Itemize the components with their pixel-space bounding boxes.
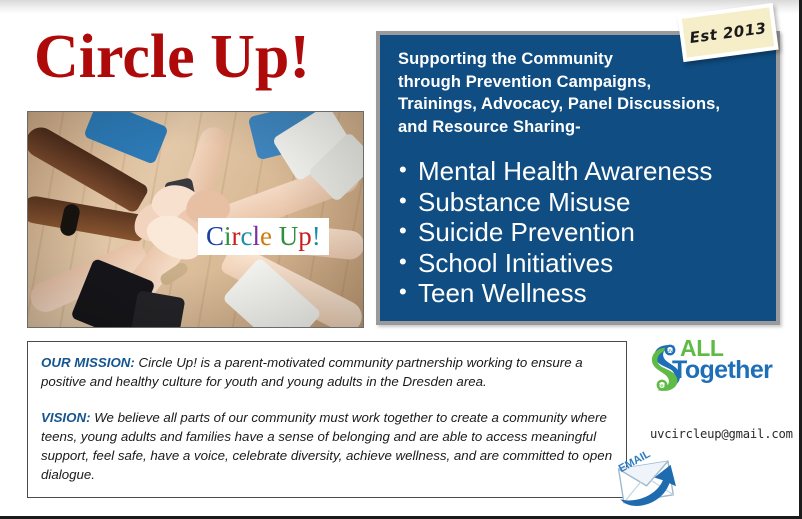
- vision-statement: VISION: We believe all parts of our comm…: [41, 408, 613, 484]
- hands-circle-photo: Circle Up!: [27, 111, 364, 328]
- all-together-logo: UV NH ALL Together: [645, 339, 785, 397]
- flyer-page: Circle Up! Circle: [0, 0, 802, 519]
- email-icon[interactable]: EMAIL: [608, 443, 682, 509]
- focus-areas-list: Mental Health Awareness Substance Misuse…: [398, 156, 760, 309]
- mission-vision-box: OUR MISSION: Circle Up! is a parent-moti…: [27, 341, 627, 498]
- page-title: Circle Up!: [34, 22, 374, 92]
- all-together-wordmark: ALL Together: [680, 337, 772, 383]
- logo-mark-initial-top: UV: [667, 348, 673, 353]
- heading-line: through Prevention Campaigns,: [398, 71, 760, 94]
- established-note-text: Est 2013: [688, 19, 767, 47]
- list-item: Suicide Prevention: [398, 217, 760, 248]
- heading-line: Trainings, Advocacy, Panel Discussions,: [398, 93, 760, 116]
- vision-label: VISION:: [41, 410, 91, 425]
- mission-statement: OUR MISSION: Circle Up! is a parent-moti…: [41, 353, 613, 391]
- established-note-inner: Est 2013: [682, 7, 774, 57]
- programs-panel: Supporting the Community through Prevent…: [376, 31, 780, 325]
- programs-panel-inner: Supporting the Community through Prevent…: [380, 35, 776, 321]
- list-item: Mental Health Awareness: [398, 156, 760, 187]
- contact-email[interactable]: uvcircleup@gmail.com: [650, 427, 793, 441]
- programs-panel-heading: Supporting the Community through Prevent…: [398, 48, 760, 138]
- heading-line: and Resource Sharing-: [398, 116, 760, 139]
- list-item: Substance Misuse: [398, 187, 760, 218]
- mission-label: OUR MISSION:: [41, 355, 135, 370]
- vision-text: We believe all parts of our community mu…: [41, 410, 612, 482]
- top-gradient-band: [0, 0, 802, 14]
- logo-mark-initial-bottom: NH: [659, 383, 665, 388]
- list-item: School Initiatives: [398, 248, 760, 279]
- logo-word-together: Together: [672, 358, 772, 383]
- list-item: Teen Wellness: [398, 278, 760, 309]
- photo-caption-overlay: Circle Up!: [198, 218, 329, 255]
- photo-caption-text: Circle Up!: [206, 221, 321, 251]
